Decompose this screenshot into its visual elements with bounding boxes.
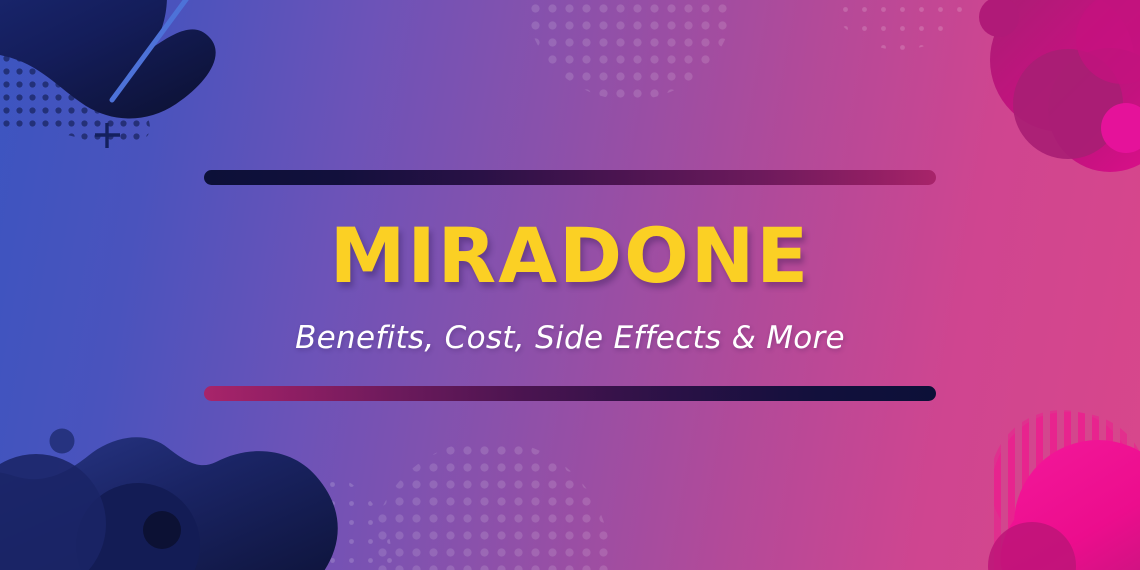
page-subtitle: Benefits, Cost, Side Effects & More bbox=[295, 320, 845, 356]
divider-bottom bbox=[204, 386, 936, 401]
page-title: MIRADONE bbox=[330, 218, 810, 294]
banner: MIRADONE Benefits, Cost, Side Effects & … bbox=[0, 0, 1140, 570]
banner-content: MIRADONE Benefits, Cost, Side Effects & … bbox=[0, 0, 1140, 570]
divider-top bbox=[204, 170, 936, 185]
